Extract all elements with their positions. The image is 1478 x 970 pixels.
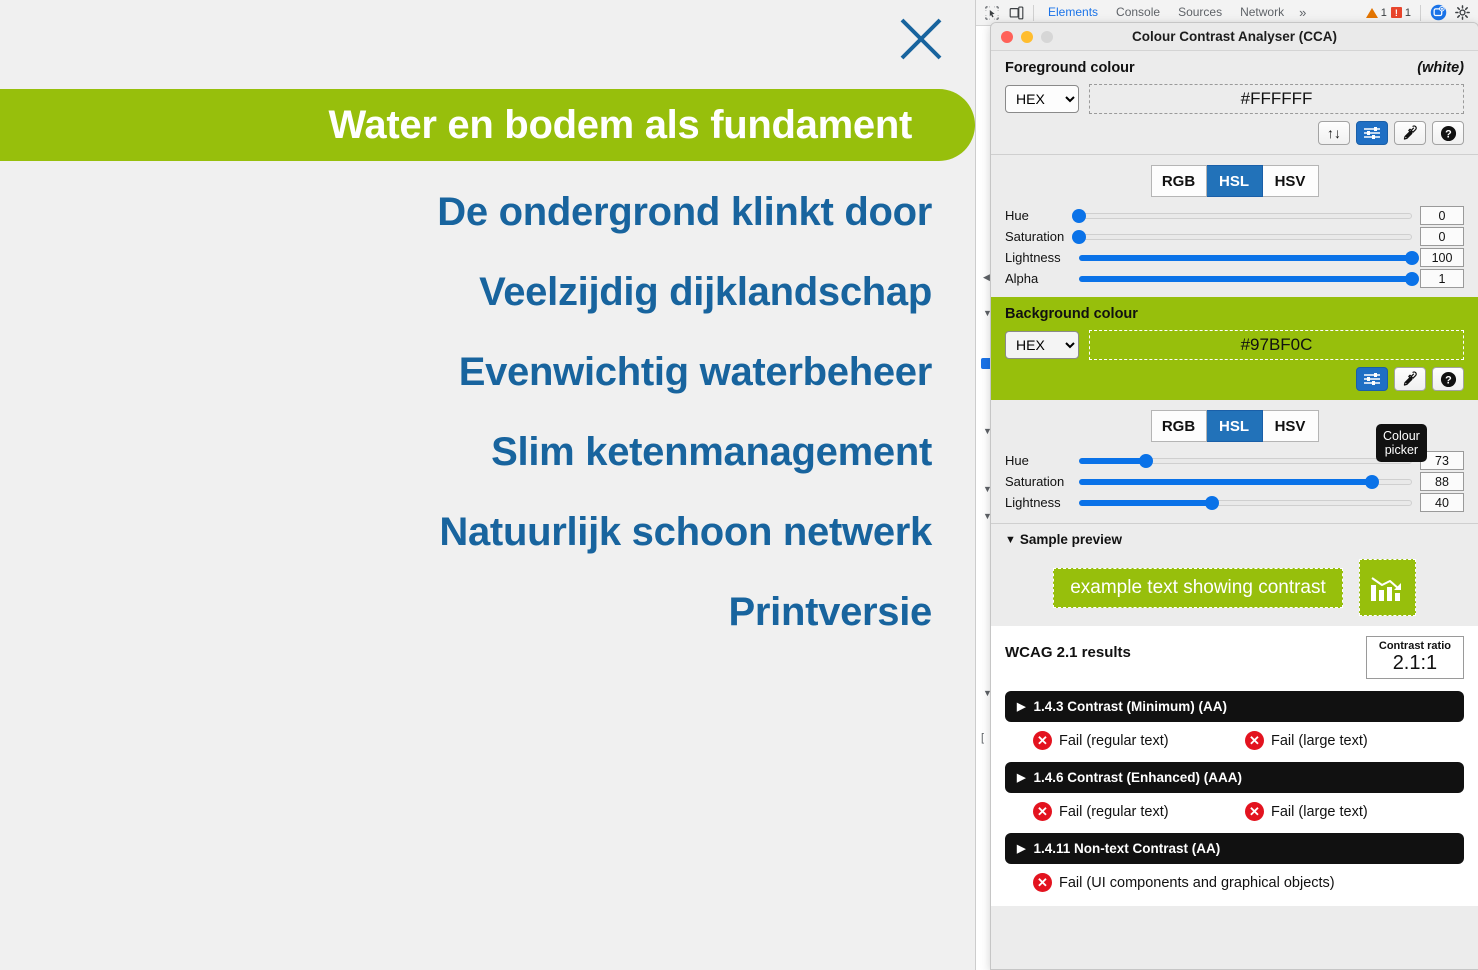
foreground-format-select[interactable]: HEX RGB HSL: [1005, 85, 1079, 113]
hue-value[interactable]: 0: [1420, 206, 1464, 225]
swap-colours-button[interactable]: ↑↓: [1318, 121, 1350, 145]
minimize-window-button[interactable]: [1021, 31, 1033, 43]
result-ui-components: ✕ Fail (UI components and graphical obje…: [1033, 873, 1335, 892]
slider-fill: [1079, 458, 1146, 464]
background-mode-hsv[interactable]: HSV: [1263, 410, 1319, 442]
sample-text: example text showing contrast: [1053, 568, 1343, 608]
warning-count[interactable]: 1: [1366, 7, 1387, 19]
sample-preview-toggle[interactable]: ▼ Sample preview: [1005, 532, 1464, 547]
chevron-right-icon: ▶: [1017, 771, 1025, 784]
foreground-colour-model-tabs: RGB HSL HSV: [991, 155, 1478, 205]
background-eyedropper-button[interactable]: [1394, 367, 1426, 391]
fail-icon: ✕: [1033, 873, 1052, 892]
gear-icon[interactable]: [1450, 2, 1474, 24]
devtools-sync-icon[interactable]: [1426, 2, 1450, 24]
result-label: Fail (regular text): [1059, 733, 1169, 749]
cca-window: Colour Contrast Analyser (CCA) Foregroun…: [990, 22, 1478, 970]
foreground-hex-input[interactable]: #FFFFFF: [1089, 84, 1464, 114]
fail-icon: ✕: [1245, 802, 1264, 821]
sliders-icon: [1363, 126, 1381, 140]
background-button-row: ?: [991, 360, 1478, 400]
slider-label: Lightness: [1005, 495, 1071, 510]
result-large-text: ✕ Fail (large text): [1245, 802, 1368, 821]
sample-graphic: [1359, 559, 1416, 616]
slider-row-lightness: Lightness 100: [991, 247, 1478, 268]
result-label: Fail (large text): [1271, 804, 1368, 820]
sliders-icon: [1363, 372, 1381, 386]
foreground-sliders: Hue 0 Saturation: [991, 205, 1478, 289]
zoom-window-button[interactable]: [1041, 31, 1053, 43]
foreground-mode-hsl[interactable]: HSL: [1207, 165, 1263, 197]
sample-preview-heading: Sample preview: [1020, 532, 1122, 547]
chevron-down-icon: ▼: [1005, 534, 1016, 546]
expand-triangle-icon[interactable]: ◀: [983, 272, 990, 283]
foreground-mode-hsv[interactable]: HSV: [1263, 165, 1319, 197]
slider-row-saturation: Saturation 0: [991, 226, 1478, 247]
help-icon: ?: [1440, 125, 1457, 142]
result-label: Fail (UI components and graphical object…: [1059, 875, 1335, 891]
criterion-1411-header[interactable]: ▶ 1.4.11 Non-text Contrast (AA): [1005, 833, 1464, 864]
bg-lightness-slider[interactable]: [1079, 496, 1412, 510]
result-label: Fail (regular text): [1059, 804, 1169, 820]
foreground-eyedropper-button[interactable]: [1394, 121, 1426, 145]
svg-text:?: ?: [1445, 128, 1452, 140]
cca-window-title: Colour Contrast Analyser (CCA): [991, 29, 1478, 44]
foreground-colour-name: (white): [1417, 60, 1464, 76]
window-controls[interactable]: [1001, 31, 1053, 43]
cca-titlebar[interactable]: Colour Contrast Analyser (CCA): [991, 23, 1478, 51]
slider-knob[interactable]: [1405, 251, 1419, 265]
hero-banner: Water en bodem als fundament: [0, 89, 975, 161]
lightness-slider[interactable]: [1079, 251, 1412, 265]
criterion-title: 1.4.11 Non-text Contrast (AA): [1033, 841, 1220, 856]
bg-hue-slider[interactable]: [1079, 454, 1412, 468]
slider-row-hue: Hue 0: [991, 205, 1478, 226]
slider-fill: [1079, 255, 1412, 261]
slider-knob[interactable]: [1365, 475, 1379, 489]
list-item[interactable]: Natuurlijk schoon netwerk: [439, 492, 975, 572]
slider-fill: [1079, 500, 1212, 506]
slider-knob[interactable]: [1205, 496, 1219, 510]
fail-icon: ✕: [1033, 802, 1052, 821]
svg-text:?: ?: [1445, 374, 1452, 386]
wcag-results-section: WCAG 2.1 results Contrast ratio 2.1:1 ▶ …: [991, 626, 1478, 906]
foreground-heading: Foreground colour: [1005, 60, 1135, 76]
tree-bracket: [: [981, 732, 984, 744]
background-mode-hsl[interactable]: HSL: [1207, 410, 1263, 442]
slider-fill: [1079, 276, 1412, 282]
bg-saturation-slider[interactable]: [1079, 475, 1412, 489]
slider-label: Hue: [1005, 453, 1071, 468]
criterion-title: 1.4.6 Contrast (Enhanced) (AAA): [1033, 770, 1242, 785]
slider-rail: [1079, 213, 1412, 219]
bg-lightness-value[interactable]: 40: [1420, 493, 1464, 512]
slider-rail: [1079, 234, 1412, 240]
background-sliders-toggle-button[interactable]: [1356, 367, 1388, 391]
criterion-146-results: ✕ Fail (regular text) ✕ Fail (large text…: [1005, 793, 1464, 821]
sample-preview-section: ▼ Sample preview example text showing co…: [991, 524, 1478, 626]
eyedropper-icon: [1402, 371, 1418, 387]
slider-label: Saturation: [1005, 474, 1071, 489]
foreground-colour-row: HEX RGB HSL #FFFFFF: [991, 78, 1478, 114]
page-link-list: De ondergrond klinkt door Veelzijdig dij…: [0, 172, 975, 652]
list-item[interactable]: De ondergrond klinkt door: [437, 172, 975, 252]
background-heading: Background colour: [1005, 306, 1138, 322]
slider-row-alpha: Alpha 1: [991, 268, 1478, 289]
chevron-right-icon: ▶: [1017, 842, 1025, 855]
close-window-button[interactable]: [1001, 31, 1013, 43]
alpha-slider[interactable]: [1079, 272, 1412, 286]
page-title: Water en bodem als fundament: [328, 103, 975, 148]
contrast-ratio-box: Contrast ratio 2.1:1: [1366, 636, 1464, 679]
list-item[interactable]: Veelzijdig dijklandschap: [479, 252, 975, 332]
criterion-146-header[interactable]: ▶ 1.4.6 Contrast (Enhanced) (AAA): [1005, 762, 1464, 793]
bg-saturation-value[interactable]: 88: [1420, 472, 1464, 491]
warning-count-label: 1: [1381, 7, 1387, 19]
tooltip-line-2: picker: [1383, 443, 1420, 457]
slider-label: Lightness: [1005, 250, 1071, 265]
slider-label: Saturation: [1005, 229, 1071, 244]
background-colour-block: Background colour HEX RGB HSL #97BF0C: [991, 297, 1478, 400]
eyedropper-icon: [1402, 125, 1418, 141]
slider-fill: [1079, 479, 1372, 485]
colour-picker-tooltip: Colour picker: [1376, 424, 1427, 462]
fail-icon: ✕: [1245, 731, 1264, 750]
more-tabs-icon[interactable]: »: [1293, 5, 1312, 20]
slider-knob[interactable]: [1405, 272, 1419, 286]
foreground-help-button[interactable]: ?: [1432, 121, 1464, 145]
list-item[interactable]: Slim ketenmanagement: [491, 412, 975, 492]
list-item[interactable]: Printversie: [729, 572, 975, 652]
saturation-value[interactable]: 0: [1420, 227, 1464, 246]
list-item[interactable]: Evenwichtig waterbeheer: [459, 332, 975, 412]
warning-triangle-icon: [1366, 8, 1378, 18]
error-count[interactable]: ! 1: [1391, 7, 1411, 19]
background-hex-input[interactable]: #97BF0C: [1089, 330, 1464, 360]
sample-preview-row: example text showing contrast: [1005, 547, 1464, 616]
results-heading: WCAG 2.1 results: [1005, 636, 1131, 661]
contrast-ratio-label: Contrast ratio: [1379, 640, 1451, 652]
close-icon[interactable]: [890, 8, 952, 70]
slider-row-saturation: Saturation 88: [991, 471, 1478, 492]
criterion-title: 1.4.3 Contrast (Minimum) (AA): [1033, 699, 1227, 714]
slider-label: Hue: [1005, 208, 1071, 223]
foreground-mode-rgb[interactable]: RGB: [1151, 165, 1207, 197]
inspect-element-icon[interactable]: [980, 2, 1004, 24]
background-mode-rgb[interactable]: RGB: [1151, 410, 1207, 442]
foreground-button-row: ↑↓: [991, 114, 1478, 154]
tooltip-line-1: Colour: [1383, 429, 1420, 443]
slider-label: Alpha: [1005, 271, 1071, 286]
result-label: Fail (large text): [1271, 733, 1368, 749]
slider-row-lightness: Lightness 40: [991, 492, 1478, 513]
criterion-1411-results: ✕ Fail (UI components and graphical obje…: [1005, 864, 1464, 892]
lightness-value[interactable]: 100: [1420, 248, 1464, 267]
chevron-right-icon: ▶: [1017, 700, 1025, 713]
swap-arrows-icon: ↑↓: [1327, 126, 1341, 140]
result-regular-text: ✕ Fail (regular text): [1033, 731, 1245, 750]
webpage-under-test: Water en bodem als fundament De ondergro…: [0, 0, 975, 970]
criterion-143-header[interactable]: ▶ 1.4.3 Contrast (Minimum) (AA): [1005, 691, 1464, 722]
foreground-section-header: Foreground colour (white): [991, 51, 1478, 78]
foreground-sliders-toggle-button[interactable]: [1356, 121, 1388, 145]
contrast-ratio-value: 2.1:1: [1379, 652, 1451, 674]
slider-knob[interactable]: [1139, 454, 1153, 468]
toolbar-divider: [1033, 5, 1034, 21]
background-help-button[interactable]: ?: [1432, 367, 1464, 391]
background-format-select[interactable]: HEX RGB HSL: [1005, 331, 1079, 359]
background-section-header: Background colour: [991, 297, 1478, 324]
cca-body: Foreground colour (white) HEX RGB HSL #F…: [991, 51, 1478, 906]
devtools-panel: Elements Console Sources Network » 1 ! 1: [975, 0, 1478, 970]
saturation-slider[interactable]: [1079, 230, 1412, 244]
help-icon: ?: [1440, 371, 1457, 388]
slider-knob[interactable]: [1072, 230, 1086, 244]
slider-knob[interactable]: [1072, 209, 1086, 223]
error-count-label: 1: [1405, 7, 1411, 19]
result-regular-text: ✕ Fail (regular text): [1033, 802, 1245, 821]
hue-slider[interactable]: [1079, 209, 1412, 223]
error-badge-icon: !: [1391, 7, 1402, 18]
toolbar-divider-2: [1420, 5, 1421, 21]
results-header: WCAG 2.1 results Contrast ratio 2.1:1: [1005, 636, 1464, 679]
fail-icon: ✕: [1033, 731, 1052, 750]
result-large-text: ✕ Fail (large text): [1245, 731, 1368, 750]
criterion-143-results: ✕ Fail (regular text) ✕ Fail (large text…: [1005, 722, 1464, 750]
background-colour-row: HEX RGB HSL #97BF0C: [991, 324, 1478, 360]
device-toolbar-icon[interactable]: [1004, 2, 1028, 24]
bar-chart-declining-icon: [1368, 570, 1406, 606]
alpha-value[interactable]: 1: [1420, 269, 1464, 288]
